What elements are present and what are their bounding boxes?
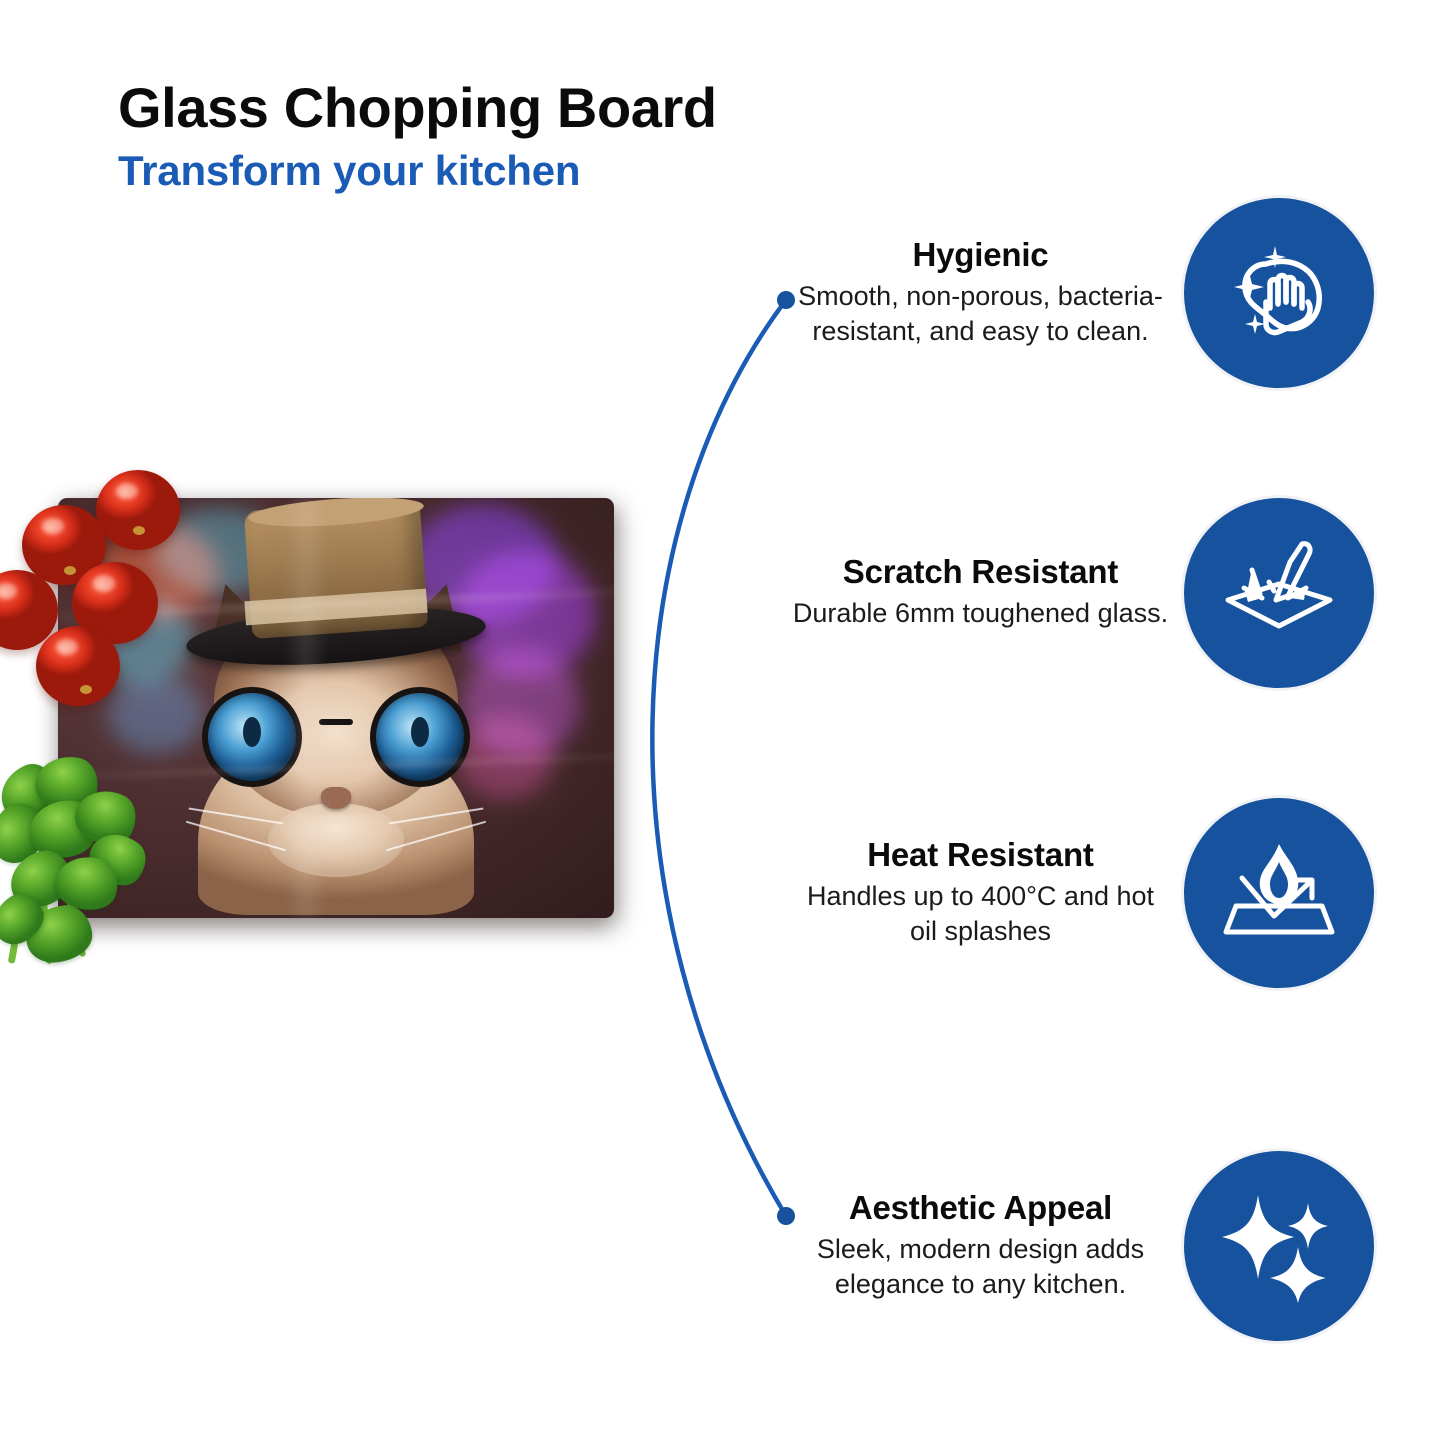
parsley-sprig xyxy=(0,760,194,970)
page-title: Glass Chopping Board xyxy=(118,78,878,137)
cherry-tomato xyxy=(36,626,120,706)
infographic-page: Glass Chopping Board Transform your kitc… xyxy=(0,0,1445,1445)
feature-item-hygienic: Hygienic Smooth, non-porous, bacteria-re… xyxy=(792,195,1377,391)
product-image-composition xyxy=(0,430,650,990)
glass-gloss xyxy=(286,498,326,918)
feature-title: Aesthetic Appeal xyxy=(792,1190,1169,1227)
cat-artwork xyxy=(156,498,516,891)
knife-impact-surface-icon xyxy=(1181,495,1377,691)
page-subtitle: Transform your kitchen xyxy=(118,149,878,194)
feature-description: Handles up to 400°C and hot oil splashes xyxy=(792,879,1169,949)
hand-wipe-sparkle-icon xyxy=(1181,195,1377,391)
feature-text: Heat Resistant Handles up to 400°C and h… xyxy=(792,837,1181,949)
feature-title: Heat Resistant xyxy=(792,837,1169,874)
feature-text: Aesthetic Appeal Sleek, modern design ad… xyxy=(792,1190,1181,1302)
feature-description: Durable 6mm toughened glass. xyxy=(792,596,1169,631)
cherry-tomato xyxy=(96,470,180,550)
feature-title: Hygienic xyxy=(792,237,1169,274)
feature-item-aesthetic-appeal: Aesthetic Appeal Sleek, modern design ad… xyxy=(792,1148,1377,1344)
feature-description: Sleek, modern design adds elegance to an… xyxy=(792,1232,1169,1302)
tomato-stem-nub xyxy=(133,526,145,535)
feature-text: Scratch Resistant Durable 6mm toughened … xyxy=(792,554,1181,631)
feature-item-heat-resistant: Heat Resistant Handles up to 400°C and h… xyxy=(792,795,1377,991)
flame-deflect-surface-icon xyxy=(1181,795,1377,991)
tomato-stem-nub xyxy=(80,685,92,694)
cat-glasses-lens-right xyxy=(370,687,470,787)
tomato-stem-nub xyxy=(64,566,76,575)
feature-title: Scratch Resistant xyxy=(792,554,1169,591)
feature-description: Smooth, non-porous, bacteria-resistant, … xyxy=(792,279,1169,349)
header: Glass Chopping Board Transform your kitc… xyxy=(118,78,878,194)
connector-path xyxy=(652,300,786,1216)
feature-text: Hygienic Smooth, non-porous, bacteria-re… xyxy=(792,237,1181,349)
cat-pupil xyxy=(243,717,261,747)
sparkles-icon xyxy=(1181,1148,1377,1344)
feature-item-scratch-resistant: Scratch Resistant Durable 6mm toughened … xyxy=(792,495,1377,691)
cat-pupil xyxy=(411,717,429,747)
